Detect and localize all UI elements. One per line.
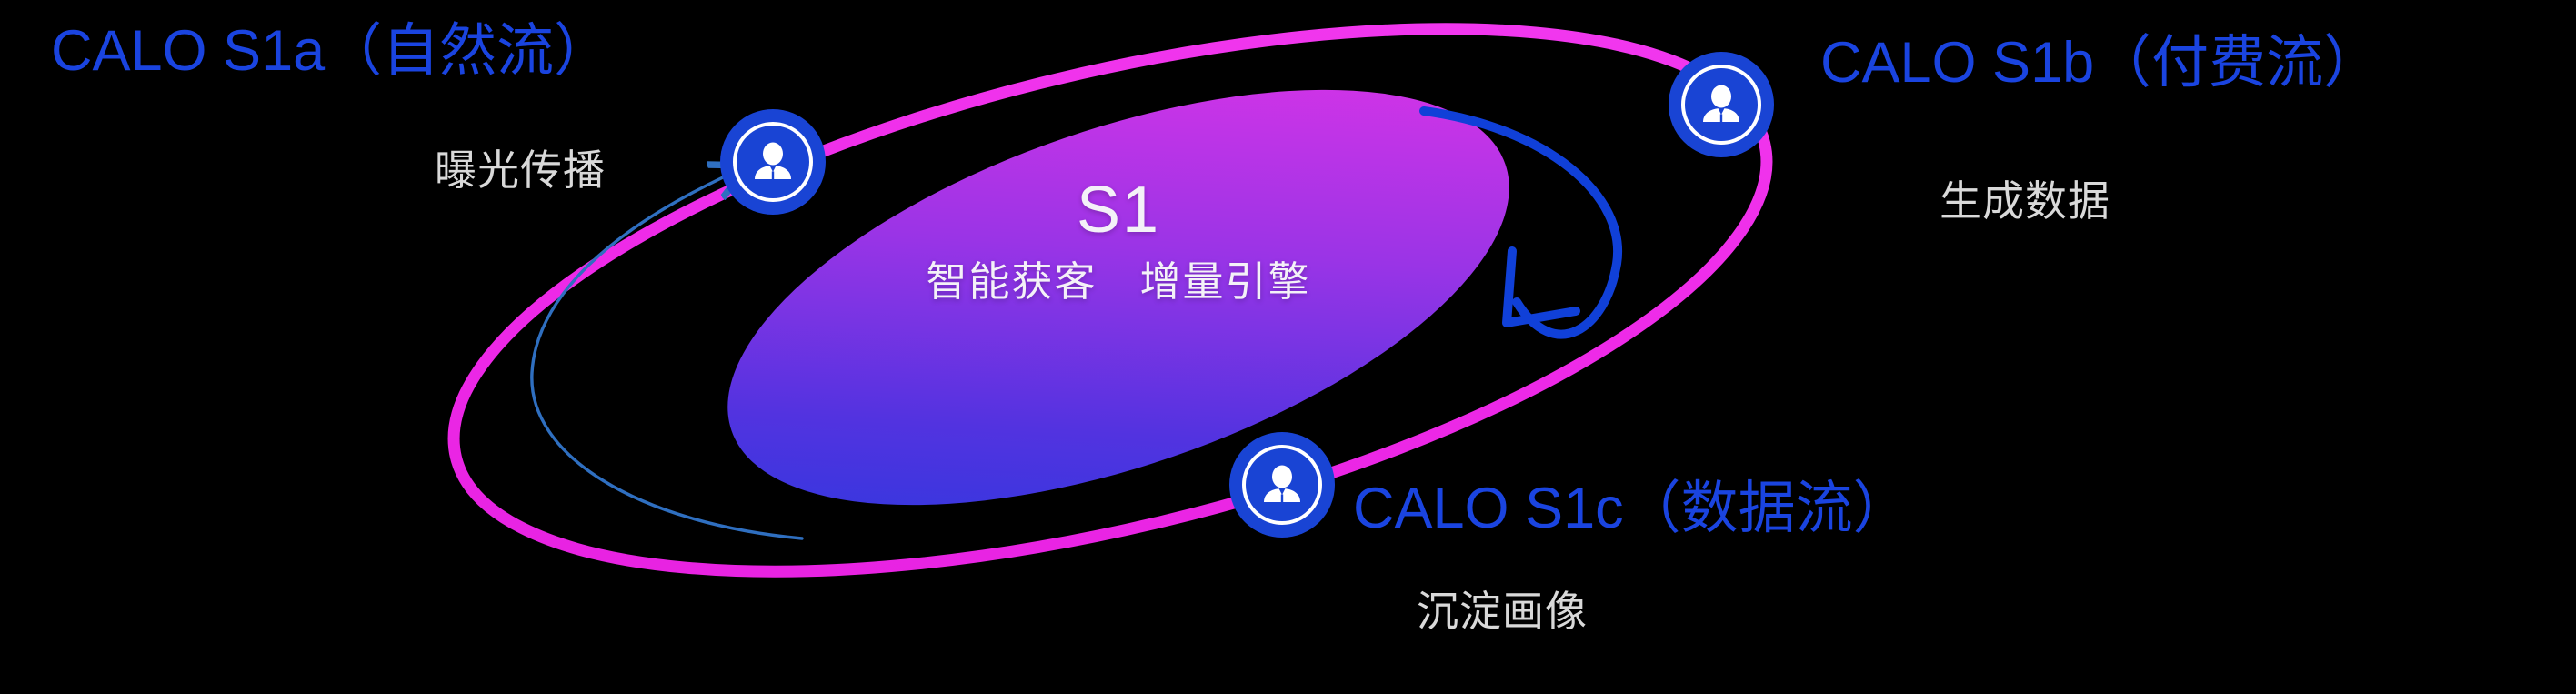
core-title: S1: [909, 177, 1328, 243]
person-badge-icon: [1698, 81, 1745, 128]
person-badge-icon: [749, 138, 797, 186]
diagram-canvas: S1 智能获客 增量引擎 CALO S1a（自然流）: [0, 0, 2576, 694]
node-sublabel-s1b: 生成数据: [1940, 179, 2110, 225]
node-sublabel-s1c: 沉淀画像: [1417, 589, 1588, 635]
core-subtitle: 智能获客 增量引擎: [909, 248, 1328, 307]
node-title-s1c: CALO S1c（数据流）: [1353, 478, 1910, 539]
node-title-s1b: CALO S1b（付费流）: [1820, 32, 2381, 94]
node-badge-s1c[interactable]: [1229, 432, 1335, 538]
node-badge-s1a[interactable]: [720, 109, 826, 215]
core-label-group: S1 智能获客 增量引擎: [909, 177, 1328, 307]
node-badge-s1b[interactable]: [1669, 52, 1774, 157]
person-badge-icon: [1258, 461, 1306, 508]
node-sublabel-s1a: 曝光传播: [435, 148, 606, 194]
diagram-graphics-layer: [0, 0, 2576, 694]
node-title-s1a: CALO S1a（自然流）: [51, 20, 611, 82]
